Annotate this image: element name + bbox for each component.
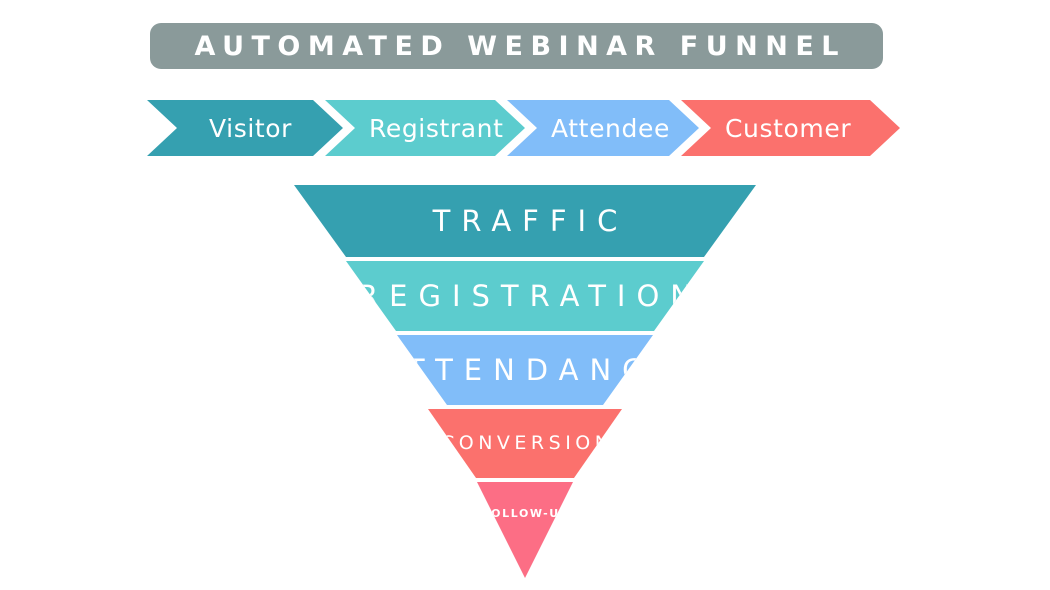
funnel-band-traffic[interactable]: TRAFFIC — [294, 185, 756, 257]
funnel-chart: TRAFFIC REGISTRATION ATTENDANCE CONVERSI… — [0, 0, 1050, 590]
funnel-band-attendance[interactable]: ATTENDANCE — [397, 335, 653, 405]
funnel-band-follow-up[interactable]: FOLLOW-UP — [477, 482, 573, 578]
funnel-band-label: ATTENDANCE — [367, 356, 682, 385]
funnel-band-label: REGISTRATION — [347, 282, 703, 311]
funnel-band-registration[interactable]: REGISTRATION — [346, 261, 704, 331]
funnel-band-conversion[interactable]: CONVERSION — [428, 409, 622, 478]
funnel-band-label: FOLLOW-UP — [480, 508, 569, 519]
funnel-band-label: CONVERSION — [437, 434, 614, 453]
infographic-canvas: AUTOMATED WEBINAR FUNNEL Visitor Registr… — [0, 0, 1050, 590]
funnel-band-label: TRAFFIC — [422, 207, 629, 236]
